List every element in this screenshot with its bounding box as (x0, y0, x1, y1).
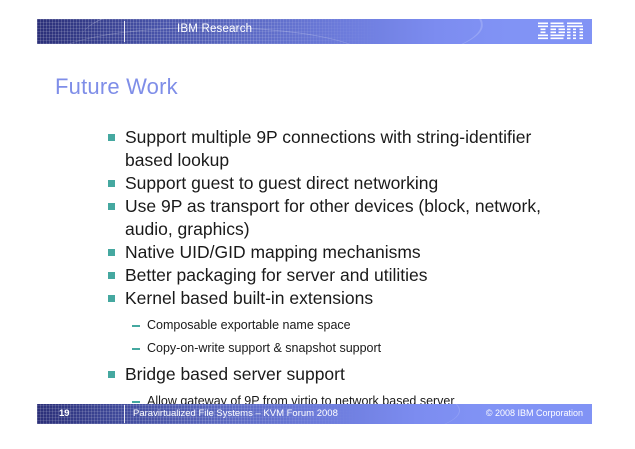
header-title: IBM Research (177, 23, 252, 35)
footer-divider (124, 405, 125, 423)
page-title: Future Work (55, 74, 178, 100)
list-item: Kernel based built-in extensions (108, 287, 578, 310)
footer-subject: Paravirtualized File Systems – KVM Forum… (133, 408, 338, 419)
list-item: Bridge based server support (108, 363, 578, 386)
sub-list-item: Composable exportable name space (108, 317, 578, 333)
header-bar: IBM Research (37, 19, 592, 44)
sub-list-item: Copy-on-write support & snapshot support (108, 340, 578, 356)
footer-copyright: © 2008 IBM Corporation (486, 408, 583, 418)
page-number: 19 (59, 408, 70, 419)
header-divider (124, 21, 125, 42)
list-item: Support multiple 9P connections with str… (108, 126, 578, 172)
ibm-logo-icon (538, 22, 584, 40)
list-item: Better packaging for server and utilitie… (108, 264, 578, 287)
bullet-list: Support multiple 9P connections with str… (108, 126, 578, 416)
footer-bar: 19 Paravirtualized File Systems – KVM Fo… (37, 404, 592, 424)
list-item: Use 9P as transport for other devices (b… (108, 195, 578, 241)
slide-canvas: IBM Research (0, 0, 635, 449)
list-item: Native UID/GID mapping mechanisms (108, 241, 578, 264)
list-item: Support guest to guest direct networking (108, 172, 578, 195)
